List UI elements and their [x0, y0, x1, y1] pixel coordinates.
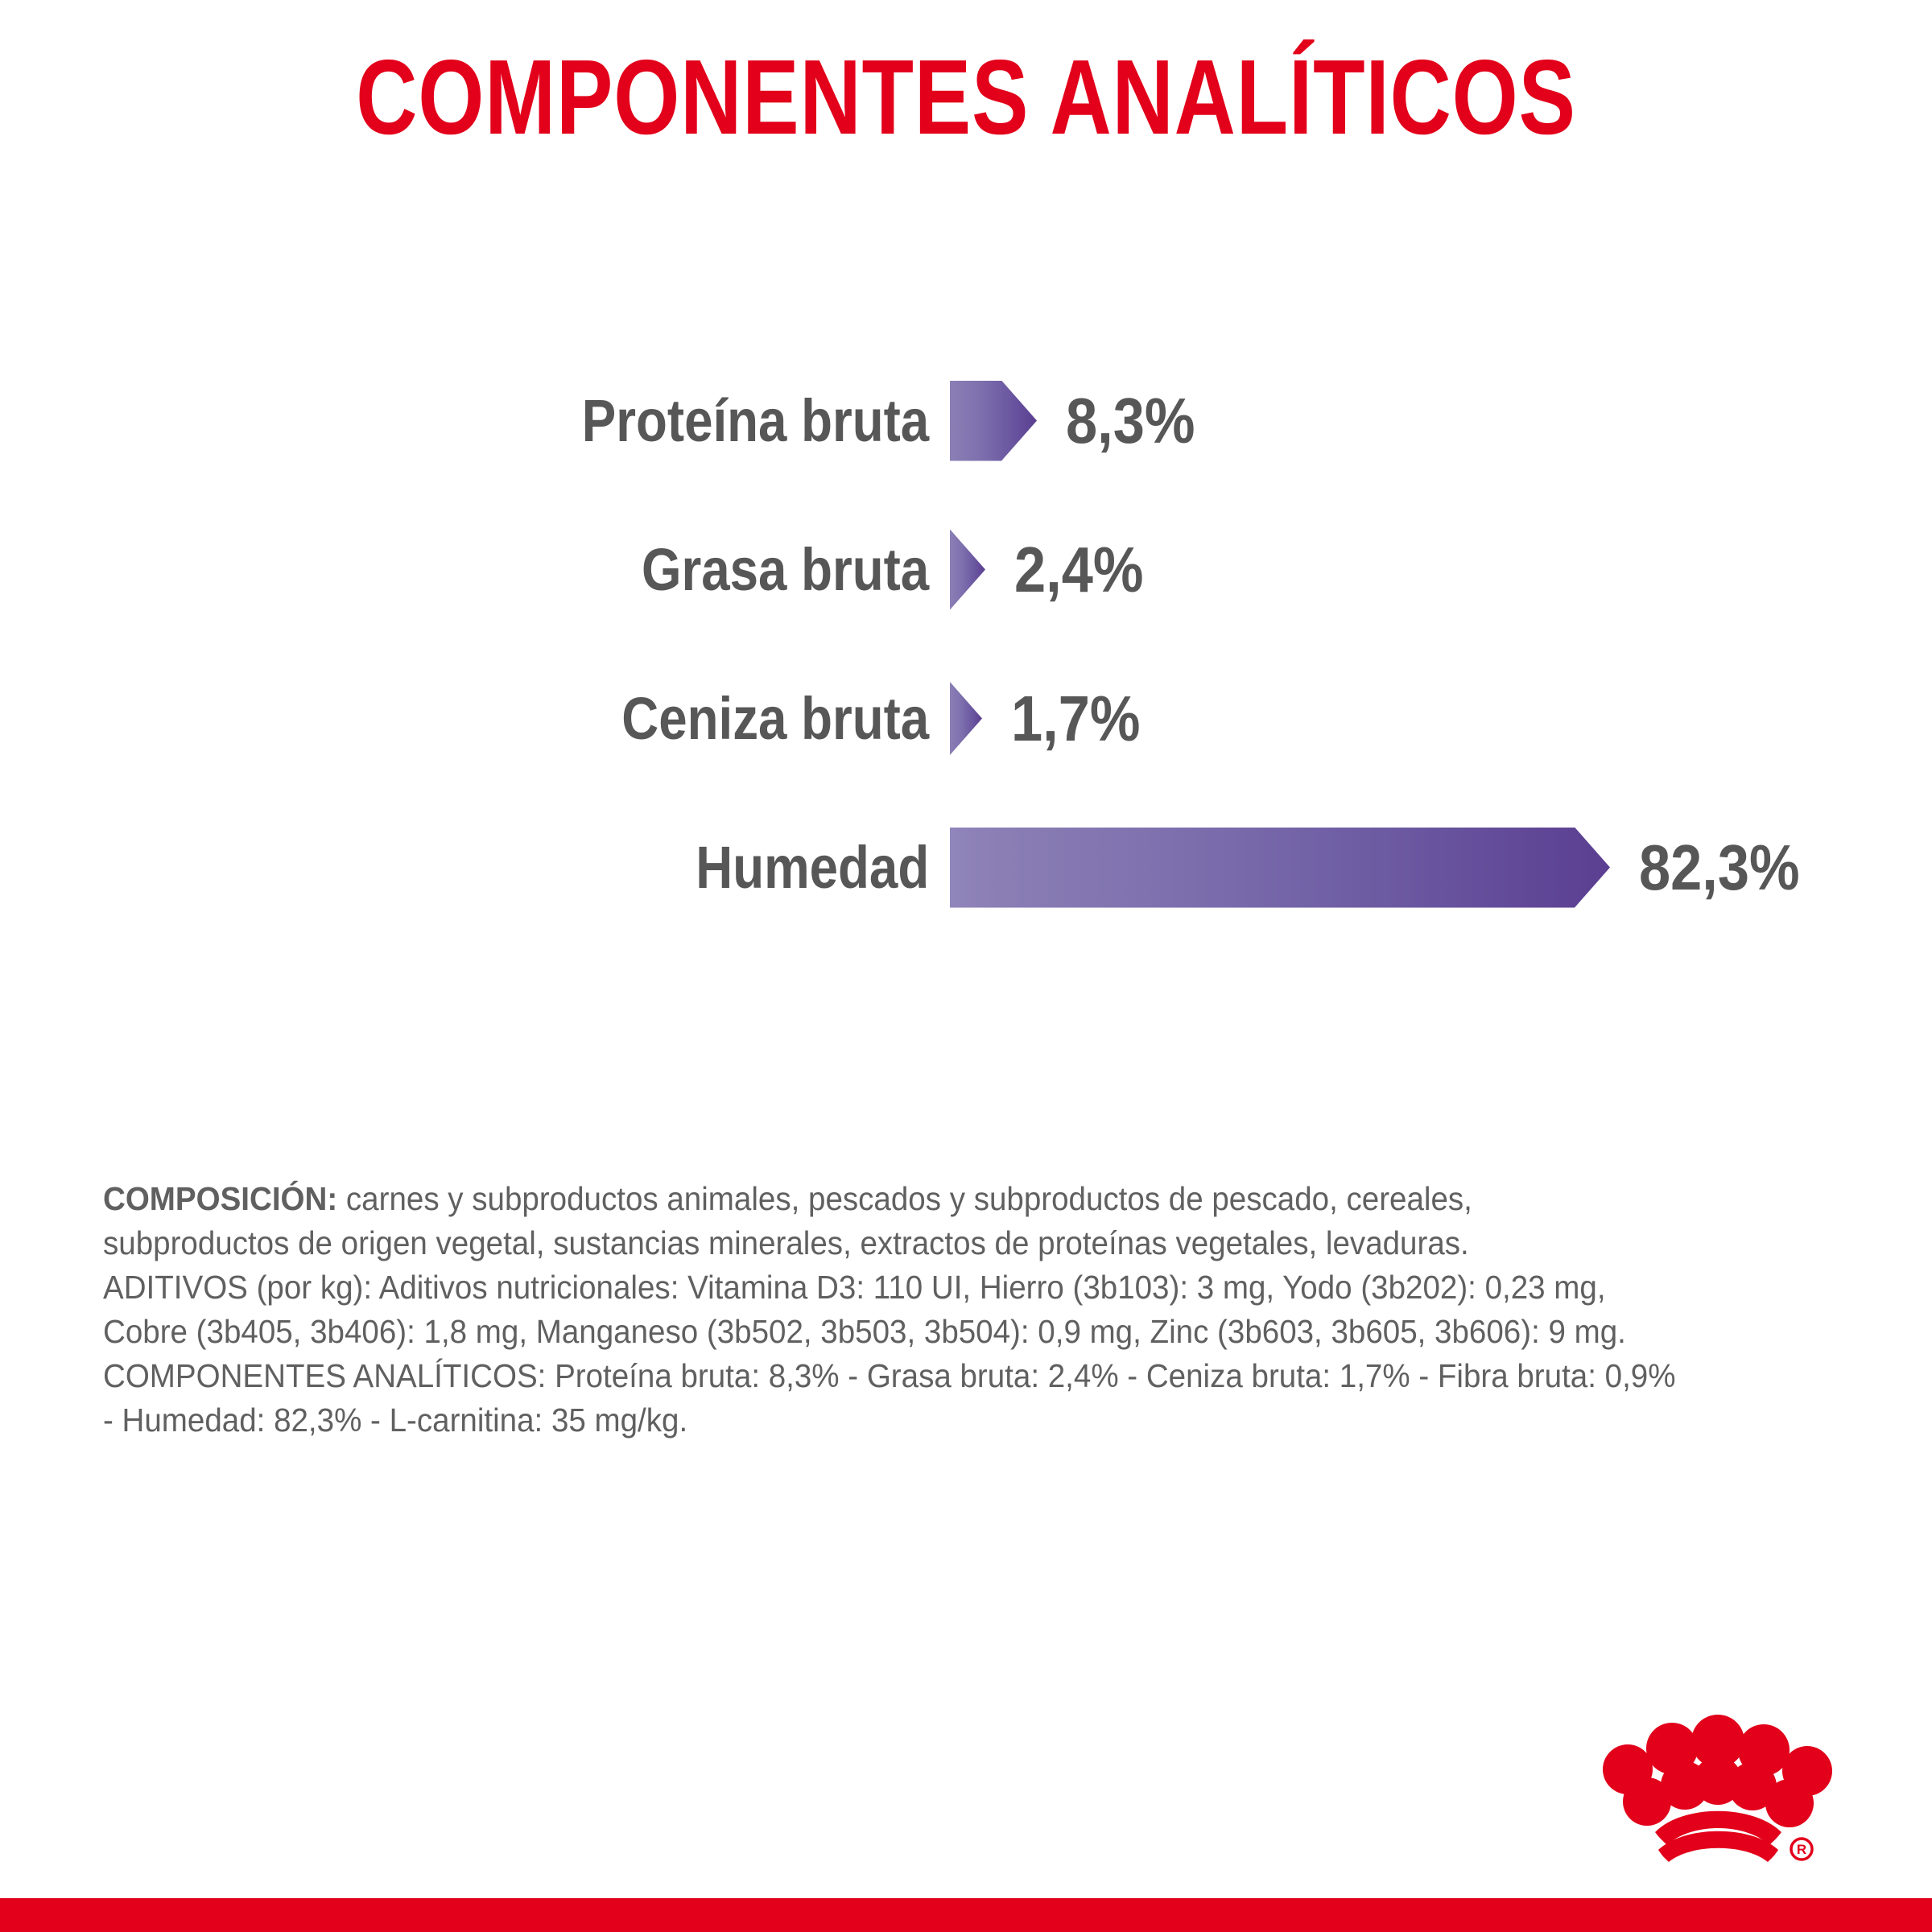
nutrient-row: Humedad 82,3% [0, 793, 1932, 942]
nutrient-bar-wrap-ash: 1,7% [950, 679, 1158, 759]
nutrient-bar-ash [950, 679, 982, 759]
composition-text-block: COMPOSICIÓN: carnes y subproductos anima… [103, 1177, 1752, 1443]
nutrient-bar-wrap-protein: 8,3% [950, 381, 1212, 461]
nutrient-row: Grasa bruta 2,4% [0, 495, 1932, 644]
nutrient-bar-wrap-moisture: 82,3% [950, 828, 1822, 908]
nutrient-label-protein: Proteína bruta [133, 391, 950, 451]
nutrient-row: Proteína bruta 8,3% [0, 346, 1932, 495]
nutrient-value-protein: 8,3% [1066, 389, 1195, 453]
composition-line-3: ADITIVOS (por kg): Aditivos nutricionale… [103, 1265, 1752, 1310]
nutrient-value-fat: 2,4% [1014, 538, 1143, 602]
composition-line-2: subproductos de origen vegetal, sustanci… [103, 1221, 1752, 1265]
nutrient-value-ash: 1,7% [1011, 687, 1140, 751]
svg-text:R: R [1797, 1842, 1806, 1857]
page-title: COMPONENTES ANALÍTICOS [193, 39, 1739, 155]
nutrient-label-fat: Grasa bruta [133, 540, 950, 600]
analytical-constituents-chart: Proteína bruta 8,3% Grasa bruta 2,4% Cen… [0, 346, 1932, 942]
nutrient-bar-fat [950, 530, 985, 610]
bottom-brand-bar [0, 1898, 1932, 1932]
composition-line-6: - Humedad: 82,3% - L-carnitina: 35 mg/kg… [103, 1398, 1752, 1443]
nutrition-info-page: COMPONENTES ANALÍTICOS Proteína bruta 8,… [0, 0, 1932, 1932]
nutrient-row: Ceniza bruta 1,7% [0, 644, 1932, 793]
nutrient-value-moisture: 82,3% [1639, 836, 1800, 900]
nutrient-label-moisture: Humedad [133, 838, 950, 898]
nutrient-bar-protein [950, 381, 1037, 461]
nutrient-bar-wrap-fat: 2,4% [950, 530, 1161, 610]
composition-line-4: Cobre (3b405, 3b406): 1,8 mg, Manganeso … [103, 1310, 1752, 1354]
composition-line-1: COMPOSICIÓN: carnes y subproductos anima… [103, 1177, 1752, 1221]
registered-trademark-mark: R [1791, 1839, 1812, 1860]
composition-line-1-rest: carnes y subproductos animales, pescados… [337, 1180, 1472, 1217]
composition-heading: COMPOSICIÓN: [103, 1180, 337, 1217]
composition-line-5: COMPONENTES ANALÍTICOS: Proteína bruta: … [103, 1354, 1752, 1398]
nutrient-bar-moisture [950, 828, 1610, 908]
royal-canin-crown-logo: R [1578, 1715, 1843, 1892]
nutrient-label-ash: Ceniza bruta [133, 689, 950, 749]
